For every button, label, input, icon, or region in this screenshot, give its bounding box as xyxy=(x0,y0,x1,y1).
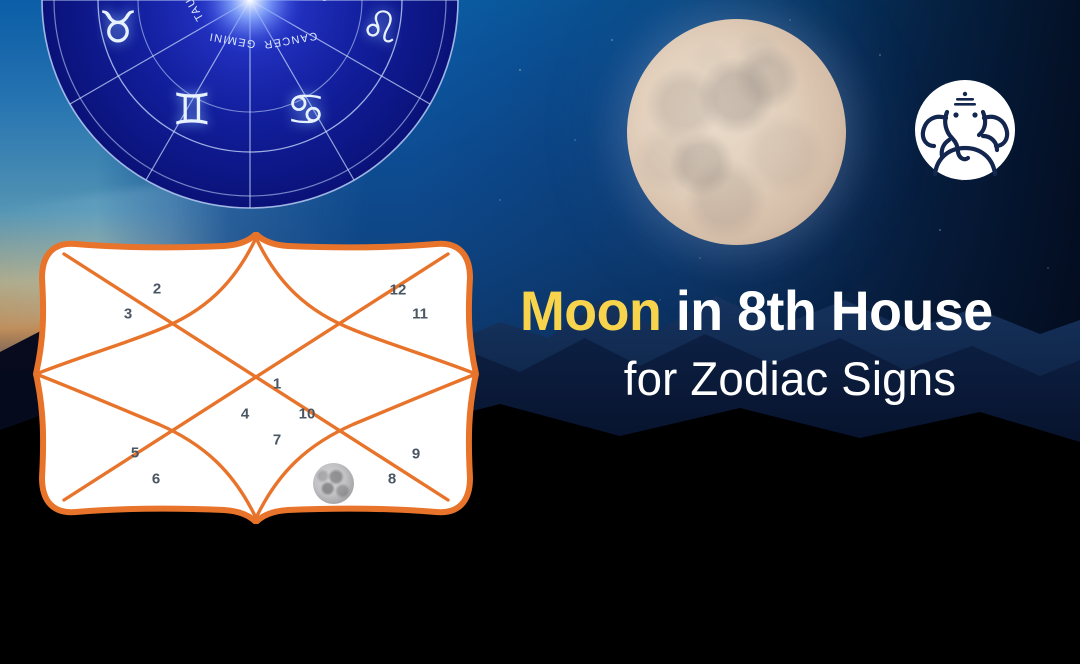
house-number-5: 5 xyxy=(131,445,139,462)
moon-planet-marker-house-8 xyxy=(313,463,354,504)
full-moon-photo xyxy=(627,19,846,245)
zodiac-glyph-taurus: ♉ xyxy=(98,3,137,54)
house-number-1: 1 xyxy=(273,376,281,393)
zodiac-glyph-gemini: ♊ xyxy=(172,85,211,136)
house-number-10: 10 xyxy=(299,406,316,423)
house-number-3: 3 xyxy=(124,306,132,323)
house-number-4: 4 xyxy=(241,406,250,423)
house-number-6: 6 xyxy=(152,471,160,488)
house-number-2: 2 xyxy=(153,281,161,298)
headline-accent-word: Moon xyxy=(520,279,661,342)
zodiac-glyph-leo: ♌ xyxy=(360,3,399,54)
house-number-11: 11 xyxy=(412,306,428,323)
house-number-12: 12 xyxy=(390,282,407,299)
house-number-9: 9 xyxy=(412,446,420,463)
north-indian-birth-chart: 1 2 3 4 5 6 7 8 9 10 11 12 xyxy=(28,232,484,524)
headline-rest: in 8th House xyxy=(661,279,992,342)
zodiac-wheel: ♈ ♉ ♊ ♋ ♌ ♍ ARIES TAURUS GEMINI CANCER L… xyxy=(40,0,460,210)
zodiac-glyph-cancer: ♋ xyxy=(286,85,325,136)
house-number-8: 8 xyxy=(388,471,396,488)
house-number-7: 7 xyxy=(273,432,281,449)
ganesha-logo xyxy=(913,78,1017,182)
page-subtitle: for Zodiac Signs xyxy=(528,355,1052,402)
headline-block: Moon in 8th House for Zodiac Signs xyxy=(520,282,1060,402)
page-title: Moon in 8th House xyxy=(520,282,1038,339)
banner-image: ♈ ♉ ♊ ♋ ♌ ♍ ARIES TAURUS GEMINI CANCER L… xyxy=(0,0,1080,664)
